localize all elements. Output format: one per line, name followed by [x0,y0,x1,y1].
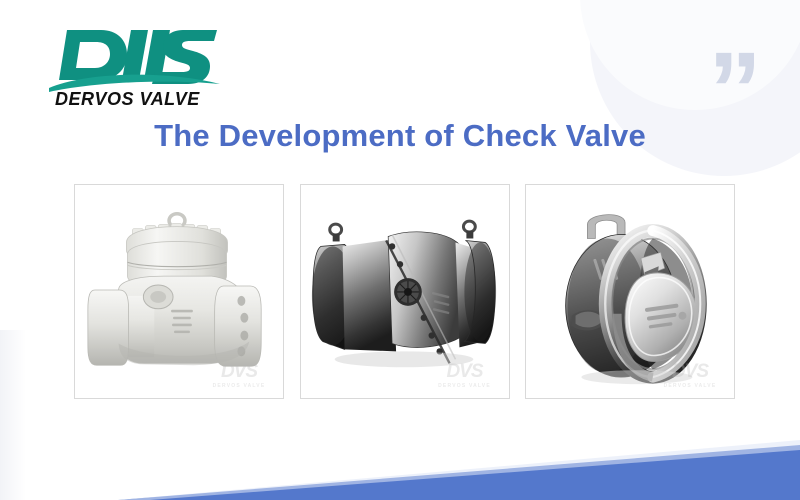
dervos-valve-logo: DERVOS VALVE [47,22,222,108]
gallery-frame-3[interactable]: DVS DERVOS VALVE [525,184,735,399]
page-title: The Development of Check Valve [0,118,800,154]
valve-image-gallery: DVS DERVOS VALVE [74,184,735,399]
swing-check-valve-photo [75,185,283,398]
gallery-frame-1[interactable]: DVS DERVOS VALVE [74,184,284,399]
tilting-disc-check-valve-photo [301,185,509,398]
wafer-check-valve-photo [526,185,734,398]
logo-wordmark: DERVOS VALVE [55,89,200,108]
bottom-diagonal-band [0,410,800,500]
gallery-frame-2[interactable]: DVS DERVOS VALVE [300,184,510,399]
presentation-slide: ” DERVOS VALVE The Development of Check … [0,0,800,500]
